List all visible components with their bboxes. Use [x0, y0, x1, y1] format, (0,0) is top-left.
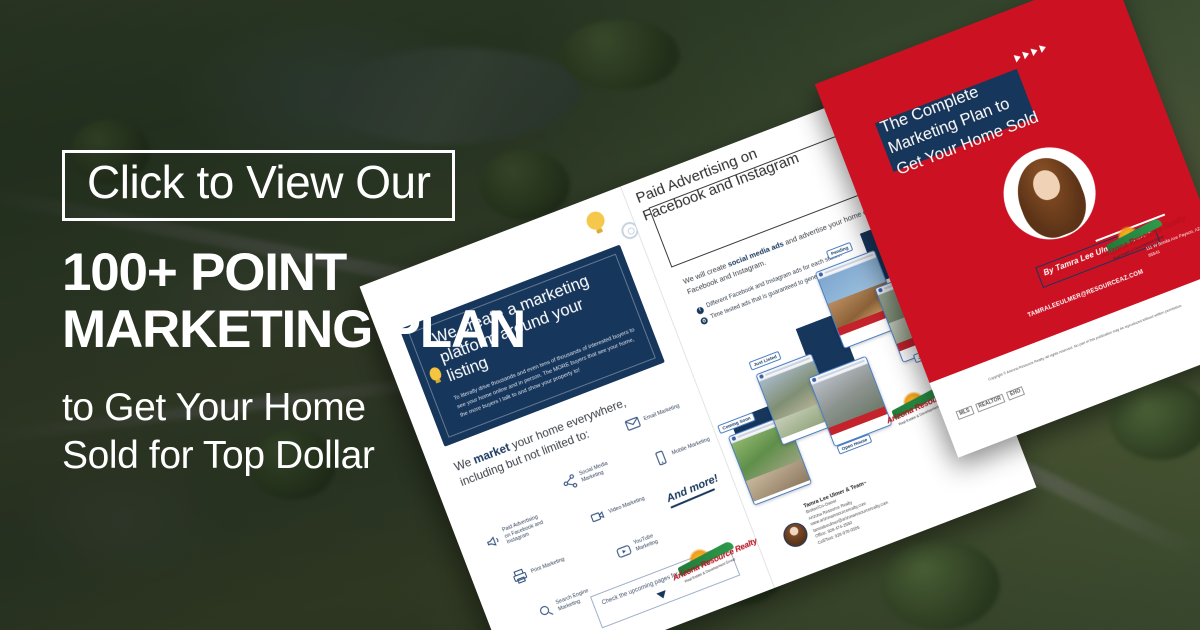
- share-nodes-icon: [559, 472, 580, 493]
- channel-label: Video Marketing: [608, 493, 651, 515]
- avatar: [812, 377, 817, 382]
- facebook-bullet-icon: f: [696, 306, 705, 315]
- hero-text-block: Click to View Our 100+ POINT MARKETING P…: [62, 150, 532, 479]
- page-subtitle: to Get Your Home Sold for Top Dollar: [62, 384, 532, 479]
- headline-line-2: MARKETING PLAN: [62, 302, 532, 359]
- channel-label: Social Media Marketing: [578, 456, 624, 484]
- and-more-label: And more!: [665, 472, 722, 508]
- channel-print-marketing: Print Marketing: [510, 549, 575, 587]
- channel-label: Print Marketing: [530, 553, 573, 575]
- subtitle-line-2: Sold for Top Dollar: [62, 432, 532, 480]
- avatar: [818, 272, 823, 277]
- cta-label: Click to View Our: [87, 159, 430, 206]
- avatar: [878, 288, 883, 293]
- lightbulb-icon: [584, 209, 607, 232]
- subtitle-line-1: to Get Your Home: [62, 386, 366, 429]
- channel-mobile-marketing: Mobile Marketing: [651, 430, 716, 468]
- channel-label: YouTube Marketing: [633, 525, 679, 553]
- search-icon: [536, 601, 557, 622]
- channel-social-media-marketing: Social Media Marketing: [559, 455, 624, 493]
- video-camera-icon: [587, 506, 608, 527]
- channel-paid-advertising: Paid Advertising on Facebook and Instagr…: [483, 512, 550, 553]
- mobile-phone-icon: [651, 448, 672, 469]
- printer-icon: [510, 566, 531, 587]
- avatar: [759, 374, 764, 379]
- channel-youtube-marketing: YouTube Marketing: [614, 524, 679, 562]
- down-arrow-icon: [656, 590, 668, 600]
- click-to-view-cta[interactable]: Click to View Our: [62, 150, 455, 221]
- channel-video-marketing: Video Marketing: [587, 489, 652, 527]
- channel-label: Mobile Marketing: [671, 435, 714, 457]
- avatar: [731, 436, 736, 441]
- headline-line-1: 100+ POINT: [62, 243, 346, 302]
- youtube-icon: [614, 541, 635, 562]
- clock-bullet-icon: ⏱: [700, 317, 709, 326]
- page-title: 100+ POINT MARKETING PLAN: [62, 245, 532, 358]
- megaphone-icon: [483, 531, 504, 552]
- channel-label: Paid Advertising on Facebook and Instagr…: [501, 512, 549, 546]
- agent-avatar: [780, 519, 811, 550]
